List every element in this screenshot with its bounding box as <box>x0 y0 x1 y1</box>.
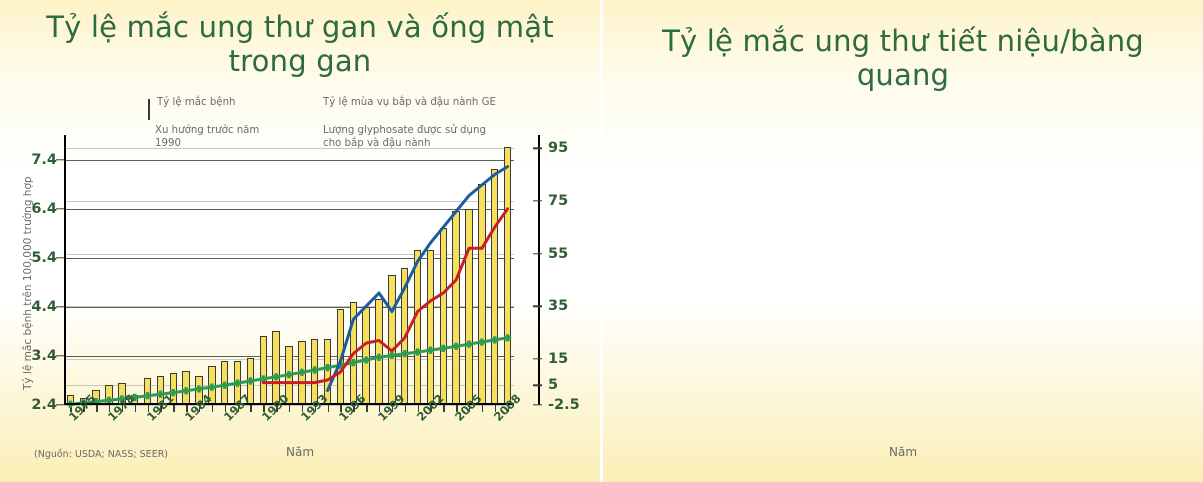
series-marker <box>388 352 395 359</box>
legend-swatch-box-icon <box>148 100 150 119</box>
series-marker <box>311 366 318 373</box>
series-marker <box>478 338 485 345</box>
secondary-y-axis-label: 5 <box>548 377 598 393</box>
series-marker <box>208 383 215 390</box>
y-axis-tick <box>56 208 64 209</box>
series-marker <box>324 364 331 371</box>
secondary-y-axis-label: 55 <box>548 246 598 262</box>
secondary-y-axis-tick <box>533 358 542 359</box>
series-marker <box>375 354 382 361</box>
secondary-y-axis-tick <box>533 253 542 254</box>
x-axis-tick <box>212 405 213 412</box>
x-axis-tick <box>289 405 290 412</box>
y-axis-label: 4.4 <box>11 299 57 315</box>
secondary-y-axis-label: 15 <box>548 351 598 367</box>
series-marker <box>285 371 292 378</box>
y-axis-label: 2.4 <box>11 397 57 413</box>
x-axis-title: Năm <box>603 445 1203 459</box>
series-marker <box>414 348 421 355</box>
series-marker <box>195 385 202 392</box>
chart-plot-area: -2.5515355575952.43.44.45.46.47.41975197… <box>64 135 514 405</box>
y-axis-tick <box>56 306 64 307</box>
dual-chart-container: Tỷ lệ mắc ung thư gan và ống mật trong g… <box>0 0 1203 482</box>
y-axis-tick <box>56 404 64 405</box>
secondary-y-axis-tick <box>533 147 542 148</box>
x-axis-tick <box>173 405 174 412</box>
legend-label: Tỷ lệ mùa vụ bắp và đậu nành GE <box>323 96 496 109</box>
series-marker <box>144 392 151 399</box>
secondary-y-axis-label: -2.5 <box>548 397 598 413</box>
chart-panel-liver-cancer: Tỷ lệ mắc ung thư gan và ống mật trong g… <box>0 0 600 482</box>
series-marker <box>183 387 190 394</box>
y-axis-label: 7.4 <box>11 152 57 168</box>
legend-label: Tỷ lệ mắc bệnh <box>157 96 235 109</box>
y-axis-line <box>64 135 66 405</box>
x-axis-tick <box>443 405 444 412</box>
series-marker <box>440 345 447 352</box>
secondary-y-axis-line <box>538 135 540 405</box>
secondary-y-axis-tick <box>533 404 542 405</box>
secondary-y-axis-label: 75 <box>548 193 598 209</box>
series-marker <box>491 336 498 343</box>
page-title: Tỷ lệ mắc ung thư tiết niệu/bàng quang <box>603 24 1203 92</box>
series-overlay <box>64 135 514 405</box>
y-axis-title: Tỷ lệ mắc bệnh trên 100,000 trường hợp <box>22 176 34 390</box>
y-axis-label: 6.4 <box>11 201 57 217</box>
y-axis-tick <box>56 355 64 356</box>
x-axis-tick <box>250 405 251 412</box>
series-marker <box>453 343 460 350</box>
series-marker <box>221 382 228 389</box>
x-axis-tick <box>366 405 367 412</box>
series-marker <box>363 356 370 363</box>
y-axis-tick <box>56 257 64 258</box>
x-axis-tick <box>405 405 406 412</box>
secondary-y-axis-tick <box>533 385 542 386</box>
series-marker <box>465 341 472 348</box>
x-axis-tick <box>135 405 136 412</box>
y-axis-tick <box>56 159 64 160</box>
y-axis-label: 3.4 <box>11 348 57 364</box>
series-marker <box>247 377 254 384</box>
legend-item-incidence-rate: Tỷ lệ mắc bệnh <box>148 96 316 119</box>
x-axis-tick <box>482 405 483 412</box>
series-marker <box>427 347 434 354</box>
series-marker <box>273 373 280 380</box>
series-marker <box>234 380 241 387</box>
series-marker <box>504 334 511 341</box>
series-marker <box>401 350 408 357</box>
x-axis-tick <box>328 405 329 412</box>
secondary-y-axis-label: 95 <box>548 140 598 156</box>
chart-panel-bladder-cancer: Tỷ lệ mắc ung thư tiết niệu/bàng quang T… <box>603 0 1203 482</box>
series-marker <box>298 369 305 376</box>
source-note: (Nguồn: USDA; NASS; SEER) <box>34 449 168 460</box>
legend-item-ge-crop-rate: Tỷ lệ mùa vụ bắp và đậu nành GE <box>316 96 566 119</box>
series-marker <box>350 359 357 366</box>
page-title: Tỷ lệ mắc ung thư gan và ống mật trong g… <box>0 10 600 78</box>
x-axis-tick <box>96 405 97 412</box>
secondary-y-axis-tick <box>533 306 542 307</box>
secondary-y-axis-label: 35 <box>548 298 598 314</box>
series-line <box>328 167 508 391</box>
secondary-y-axis-tick <box>533 200 542 201</box>
y-axis-label: 5.4 <box>11 250 57 266</box>
